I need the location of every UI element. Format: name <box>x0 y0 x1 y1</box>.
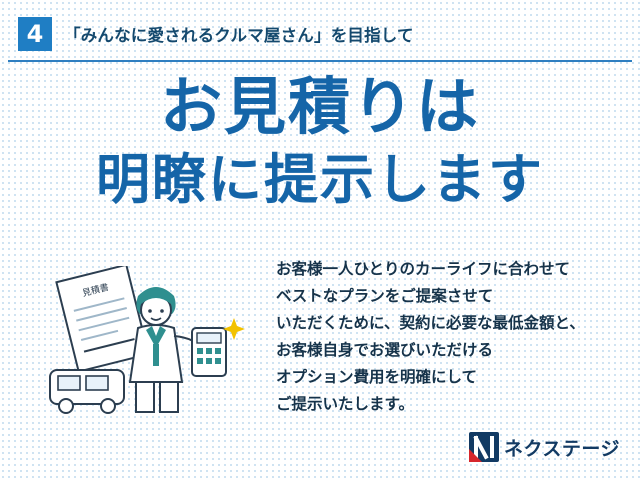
body-copy-line: お客様自身でお選びいただける <box>276 337 622 364</box>
promo-slide: 4 「みんなに愛されるクルマ屋さん」を目指して お見積りは 明瞭に提示します お… <box>0 0 640 480</box>
body-copy: お客様一人ひとりのカーライフに合わせて ベストなプランをご提案させて いただくた… <box>276 256 622 418</box>
nexstage-n-icon <box>469 432 499 462</box>
content-frame: 4 「みんなに愛されるクルマ屋さん」を目指して お見積りは 明瞭に提示します お… <box>8 8 632 472</box>
logo-red-corner <box>469 449 482 462</box>
car-icon <box>50 370 124 413</box>
body-copy-line: お客様一人ひとりのカーライフに合わせて <box>276 256 622 283</box>
headline-line-2: 明瞭に提示します <box>8 144 632 216</box>
headline: お見積りは 明瞭に提示します <box>8 70 632 216</box>
header-bar: 4 「みんなに愛されるクルマ屋さん」を目指して <box>8 8 632 62</box>
brand-name: ネクステージ <box>504 434 620 461</box>
illustration: 見積書 <box>42 266 274 426</box>
headline-line-1: お見積りは <box>8 70 632 144</box>
brand-logo: ネクステージ <box>469 432 620 462</box>
body-copy-line: ご提示いたします。 <box>276 391 622 418</box>
calculator-icon <box>192 318 245 376</box>
header-title: 「みんなに愛されるクルマ屋さん」を目指して <box>64 22 414 46</box>
body-copy-line: いただくために、契約に必要な最低金額と、 <box>276 310 622 337</box>
body-copy-line: オプション費用を明確にして <box>276 364 622 391</box>
header-badge-number: 4 <box>18 17 52 51</box>
body-copy-line: ベストなプランをご提案させて <box>276 283 622 310</box>
